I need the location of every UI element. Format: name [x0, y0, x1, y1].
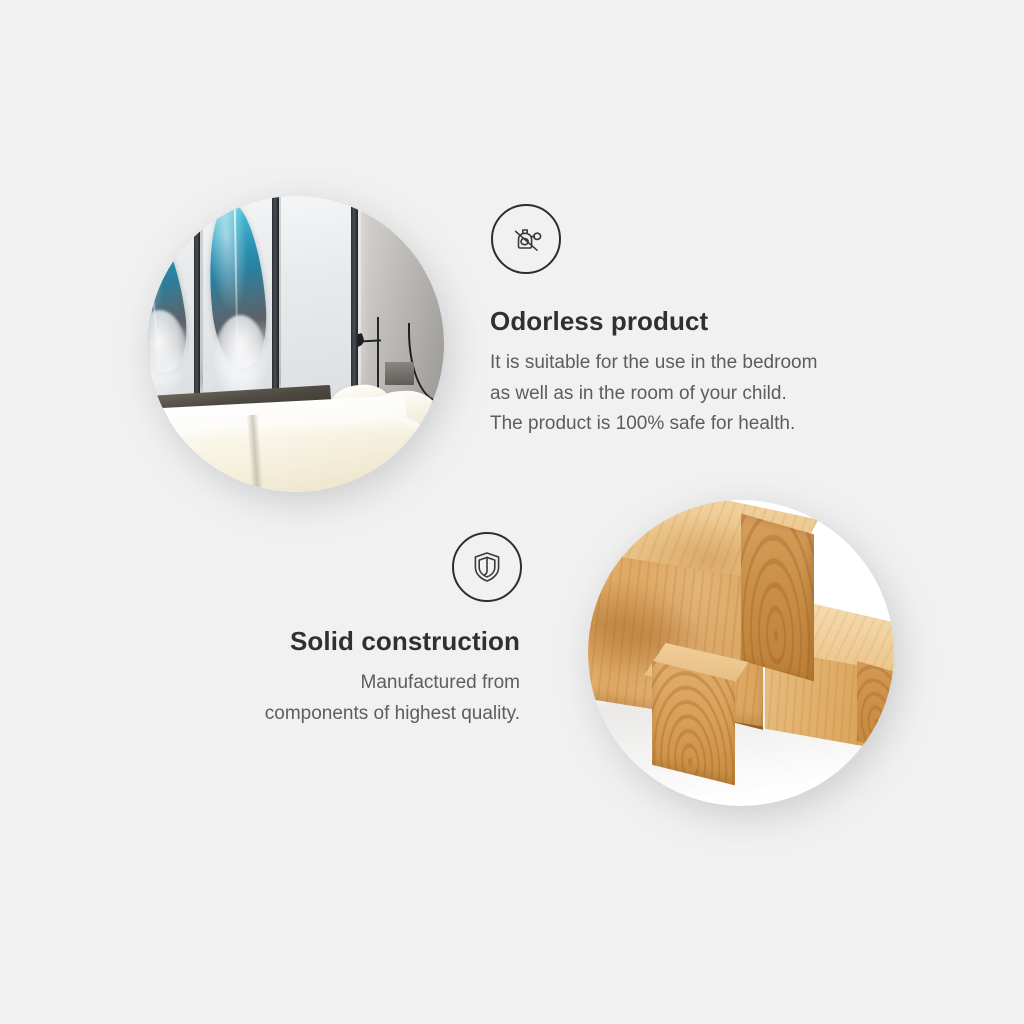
- wood-beam-end-grain: [741, 514, 814, 682]
- wood-plank-end-grain: [857, 661, 894, 755]
- canvas-panel-left: [148, 196, 195, 409]
- canvas-panel-middle: [203, 196, 274, 409]
- shield-glyph: [468, 548, 506, 586]
- canvas-panel-divider: [351, 196, 358, 409]
- feature-body-odorless: It is suitable for the use in the bedroo…: [490, 348, 940, 440]
- wooden-blocks-photo: [588, 500, 894, 806]
- wood-scene: [588, 500, 894, 806]
- wood-cube-end-grain: [652, 661, 735, 786]
- feature-text-odorless: Odorless product It is suitable for the …: [490, 307, 940, 440]
- feature-body-solid-construction: Manufactured from components of highest …: [110, 668, 520, 730]
- photo-clip: [588, 500, 894, 806]
- feature-title-odorless: Odorless product: [490, 307, 940, 337]
- bedroom-scene: [148, 196, 444, 492]
- feature-title-solid-construction: Solid construction: [110, 627, 520, 657]
- photo-clip: [148, 196, 444, 492]
- canvas-panel-divider: [272, 196, 279, 409]
- bedroom-feather-canvas-photo: [148, 196, 444, 492]
- night-stand: [385, 362, 415, 386]
- canvas-panel-right: [281, 196, 352, 409]
- feature-text-solid-construction: Solid construction Manufactured from com…: [110, 627, 520, 729]
- no-perfume-icon: [491, 204, 561, 274]
- no-perfume-glyph: [506, 219, 546, 259]
- duvet: [170, 417, 427, 492]
- canvas-panel-divider: [194, 196, 201, 409]
- infographic-canvas: Odorless product It is suitable for the …: [0, 0, 1024, 1024]
- shield-icon: [452, 532, 522, 602]
